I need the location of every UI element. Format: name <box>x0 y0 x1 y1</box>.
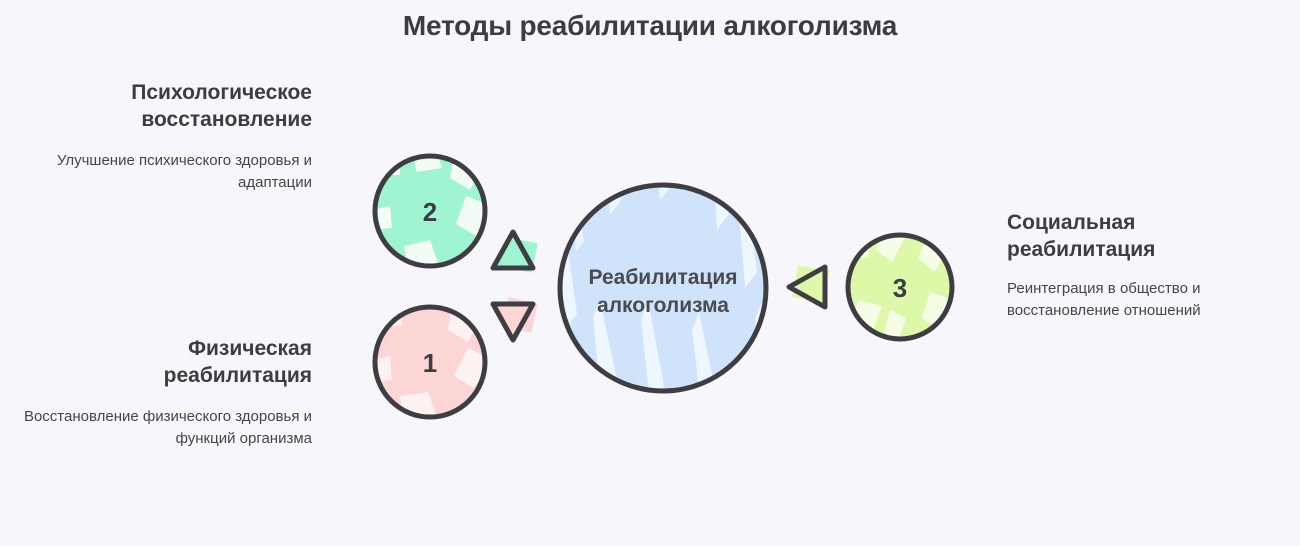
center-node-label-line2: алкоголизма <box>597 294 729 317</box>
arrow-down-icon <box>493 297 538 340</box>
node-1-number: 1 <box>423 348 437 378</box>
node-3[interactable]: 3 <box>846 226 954 342</box>
center-node[interactable]: Реабилитация алкоголизма <box>560 140 770 402</box>
arrow-up-icon <box>493 232 538 273</box>
infographic-canvas: Методы реабилитации алкоголизма Психолог… <box>0 0 1300 546</box>
node-3-number: 3 <box>893 273 907 303</box>
node-1[interactable]: 1 <box>370 300 492 424</box>
center-node-label-line1: Реабилитация <box>588 266 737 289</box>
diagram-svg: Реабилитация алкоголизма 2 <box>0 0 1300 546</box>
arrow-left-icon <box>789 265 830 307</box>
node-2[interactable]: 2 <box>370 148 492 272</box>
node-2-number: 2 <box>423 197 437 227</box>
